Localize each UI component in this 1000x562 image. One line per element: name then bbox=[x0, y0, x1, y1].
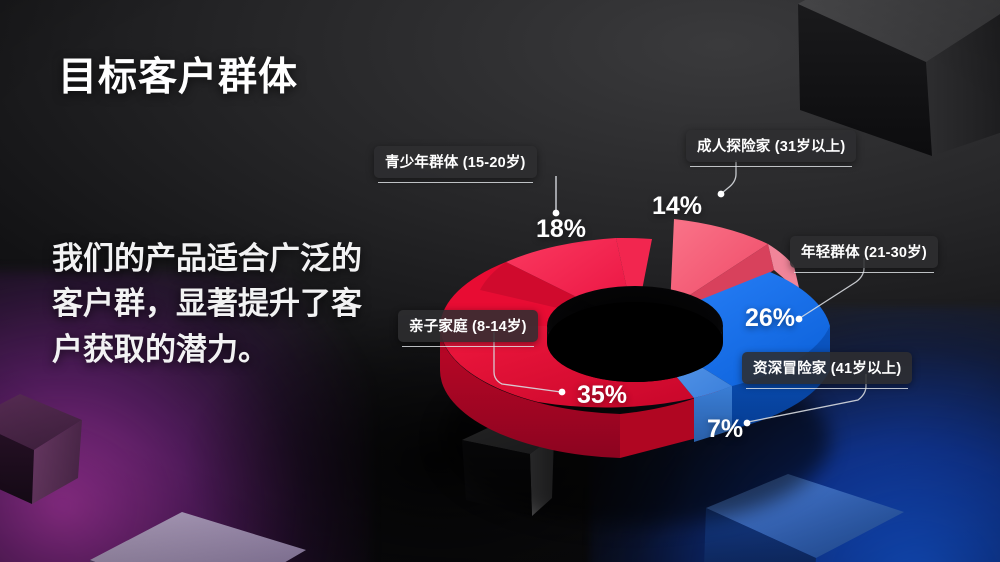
callout-label-senior[interactable]: 资深冒险家 (41岁以上) bbox=[742, 352, 912, 384]
slice-value-family: 35% bbox=[577, 381, 627, 410]
callout-label-adult[interactable]: 成人探险家 (31岁以上) bbox=[686, 130, 856, 162]
slice-value-teen: 18% bbox=[536, 215, 586, 244]
callout-label-teen[interactable]: 青少年群体 (15-20岁) bbox=[374, 146, 537, 178]
slice-value-senior: 7% bbox=[707, 415, 743, 444]
slide-canvas: 目标客户群体 我们的产品适合广泛的客户群，显著提升了客户获取的潜力。 bbox=[0, 0, 1000, 562]
slice-value-young: 26% bbox=[745, 304, 795, 333]
slice-value-adult: 14% bbox=[652, 192, 702, 221]
callout-label-young[interactable]: 年轻群体 (21-30岁) bbox=[790, 236, 938, 268]
cube-icon bbox=[0, 390, 94, 510]
callout-label-family[interactable]: 亲子家庭 (8-14岁) bbox=[398, 310, 538, 342]
cube-icon bbox=[86, 506, 316, 562]
body-paragraph: 我们的产品适合广泛的客户群，显著提升了客户获取的潜力。 bbox=[52, 236, 372, 372]
page-title: 目标客户群体 bbox=[58, 46, 298, 102]
